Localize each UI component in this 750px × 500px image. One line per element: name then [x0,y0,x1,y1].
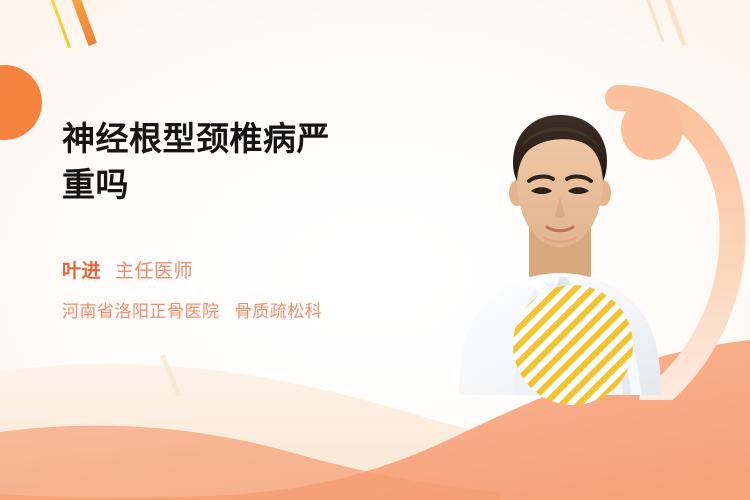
doctor-portrait: HL [455,105,665,395]
doctor-qa-cover-card: HL 神经根型颈椎病严 重吗 叶进 主任医师 河南省洛阳正骨医院 骨质疏松科 [0,0,750,500]
content-text-block: 神经根型颈椎病严 重吗 叶进 主任医师 河南省洛阳正骨医院 骨质疏松科 [62,116,432,322]
hospital-department: 骨质疏松科 [235,302,323,321]
doctor-name: 叶进 [62,256,101,283]
page-title: 神经根型颈椎病严 重吗 [62,116,432,208]
doctor-credentials: 叶进 主任医师 [62,256,432,283]
hospital-name: 河南省洛阳正骨医院 [62,302,220,321]
doctor-affiliation: 河南省洛阳正骨医院 骨质疏松科 [62,297,432,322]
svg-text:HL: HL [563,357,575,367]
doctor-professional-title: 主任医师 [115,256,193,283]
